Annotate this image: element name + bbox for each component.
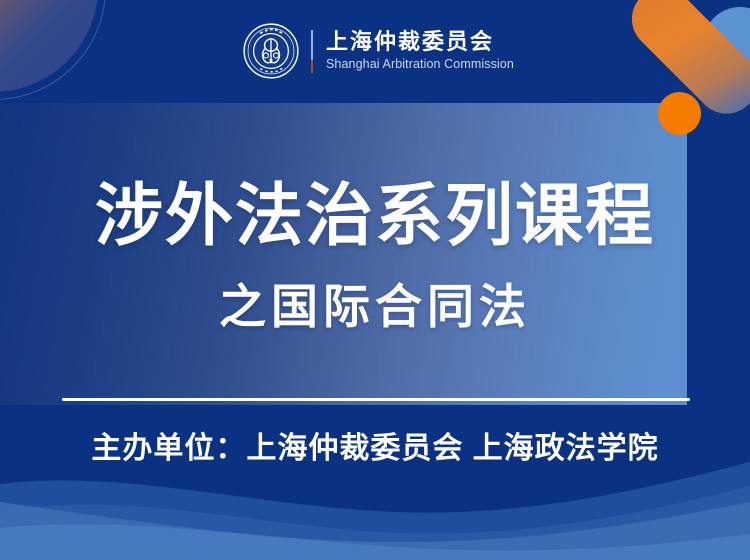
brand-text-block: 上海仲裁委员会 Shanghai Arbitration Commission	[326, 30, 514, 72]
solid-orange-circle-icon	[658, 92, 701, 135]
brand-divider-rule	[311, 30, 313, 73]
gradient-circle-topleft-icon	[0, 0, 98, 92]
poster-main-title: 涉外法治系列课程	[0, 182, 750, 250]
poster-canvas: 上海仲裁委员会 Shanghai Arbitration Commission …	[0, 0, 750, 560]
circle-outline-topleft-icon	[0, 0, 106, 100]
light-blue-circle-icon	[703, 7, 750, 81]
bottom-waves-graphic	[0, 450, 750, 560]
brand-lockup: 上海仲裁委员会 Shanghai Arbitration Commission	[243, 22, 514, 80]
brand-name-en: Shanghai Arbitration Commission	[326, 57, 514, 73]
shanghai-arbitration-commission-seal-icon	[243, 23, 299, 79]
title-gradient-panel	[0, 103, 687, 405]
brand-name-cn: 上海仲裁委员会	[326, 30, 514, 55]
horizontal-divider	[62, 398, 690, 401]
organizer-line: 主办单位：上海仲裁委员会 上海政法学院	[0, 432, 750, 465]
poster-subtitle: 之国际合同法	[0, 283, 750, 330]
